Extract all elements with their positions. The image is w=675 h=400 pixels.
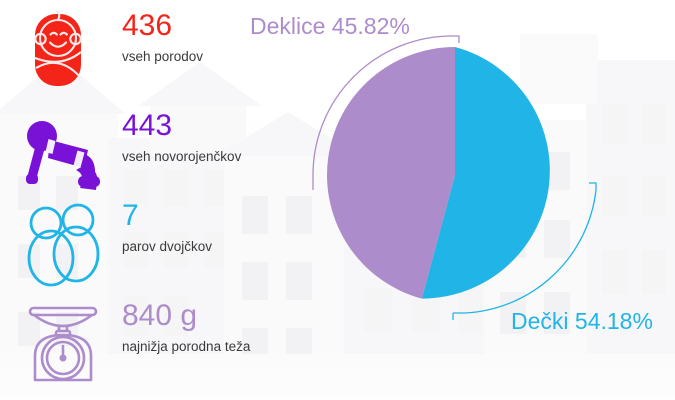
stat-text-twins: 7 parov dvojčkov — [122, 198, 212, 256]
crawling-baby-icon — [14, 106, 114, 200]
stat-value-newborns: 443 — [122, 108, 241, 144]
kitchen-scale-icon — [14, 296, 114, 390]
statistics-panel: 436 vseh porodov — [0, 0, 330, 400]
pie-chart-svg — [295, 0, 675, 400]
stat-value-twins: 7 — [122, 198, 212, 234]
pie-label-boys: Dečki 54.18% — [511, 307, 653, 335]
infographic-canvas: 436 vseh porodov — [0, 0, 675, 400]
pie-callout-hook-girls — [452, 36, 459, 43]
twins-icon — [14, 196, 114, 290]
stat-label-newborns: vseh novorojenčkov — [122, 148, 241, 166]
stat-row-weight: 840 g najnižja porodna teža — [14, 296, 324, 390]
stat-text-newborns: 443 vseh novorojenčkov — [122, 108, 241, 166]
stat-row-newborns: 443 vseh novorojenčkov — [14, 106, 324, 200]
swaddled-baby-icon — [14, 6, 114, 100]
stat-label-twins: parov dvojčkov — [122, 238, 212, 256]
pie-label-girls: Deklice 45.82% — [250, 12, 410, 40]
stat-label-weight: najnižja porodna teža — [122, 338, 250, 356]
stat-row-twins: 7 parov dvojčkov — [14, 196, 324, 290]
pie-callout-hook-boys — [589, 183, 596, 190]
stat-text-births: 436 vseh porodov — [122, 8, 203, 66]
stat-text-weight: 840 g najnižja porodna teža — [122, 298, 250, 356]
stat-value-weight: 840 g — [122, 298, 250, 334]
gender-pie-chart: Deklice 45.82% Dečki 54.18% — [295, 0, 675, 400]
stat-value-births: 436 — [122, 8, 203, 44]
stat-label-births: vseh porodov — [122, 48, 203, 66]
